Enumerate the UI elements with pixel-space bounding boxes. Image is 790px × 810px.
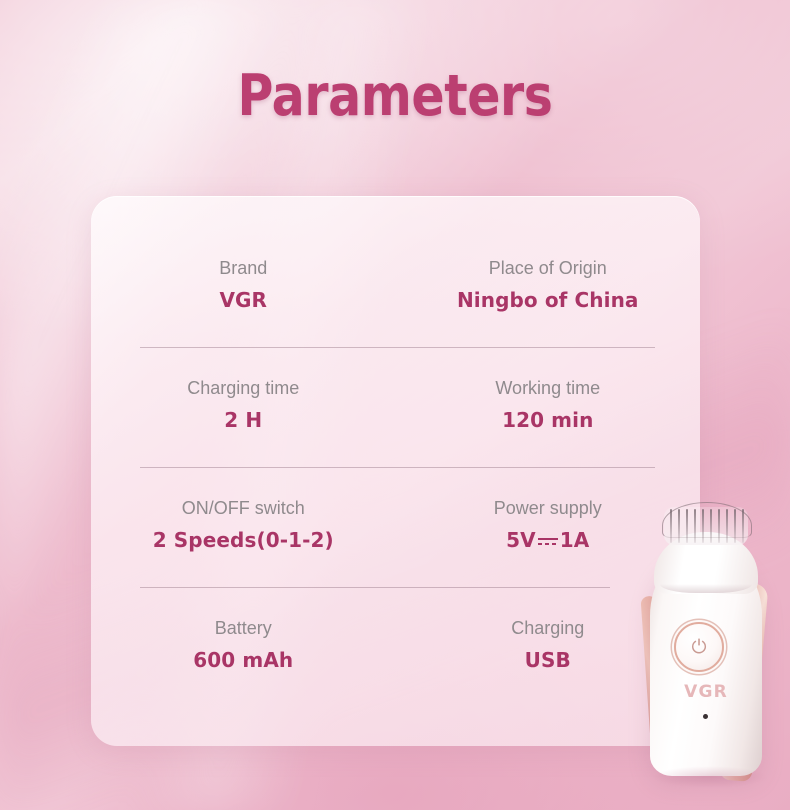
spec-label: Charging time xyxy=(91,376,396,400)
device-led-indicator xyxy=(703,714,708,719)
spec-table: Brand VGR Place of Origin Ningbo of Chin… xyxy=(91,196,700,746)
device-power-button[interactable]: ⏻ xyxy=(674,622,724,672)
dc-power-symbol-icon xyxy=(538,536,558,548)
product-image-epilator: ⏻ VGR xyxy=(636,498,790,788)
spec-value: 120 min xyxy=(396,407,701,434)
spec-value: 2 H xyxy=(91,407,396,434)
spec-label: Place of Origin xyxy=(396,256,701,280)
spec-label: Brand xyxy=(91,256,396,280)
spec-label: ON/OFF switch xyxy=(91,496,396,520)
power-voltage: 5V xyxy=(506,528,536,552)
table-row: ON/OFF switch 2 Speeds(0-1-2) Power supp… xyxy=(91,479,700,599)
row-divider xyxy=(140,467,655,468)
spec-cell-place-of-origin: Place of Origin Ningbo of China xyxy=(396,239,701,359)
device-drop-shadow xyxy=(652,766,768,788)
device-brand-logo: VGR xyxy=(636,682,776,702)
table-row: Charging time 2 H Working time 120 min xyxy=(91,359,700,479)
row-divider xyxy=(140,347,655,348)
spec-label: Working time xyxy=(396,376,701,400)
spec-value: Ningbo of China xyxy=(396,287,701,314)
spec-label: Battery xyxy=(91,616,396,640)
spec-cell-working-time: Working time 120 min xyxy=(396,359,701,479)
spec-value: 600 mAh xyxy=(91,647,396,674)
parameters-card: Brand VGR Place of Origin Ningbo of Chin… xyxy=(91,196,700,746)
page-title: Parameters xyxy=(55,64,734,128)
row-divider xyxy=(140,587,610,588)
table-row: Brand VGR Place of Origin Ningbo of Chin… xyxy=(91,239,700,359)
power-icon: ⏻ xyxy=(691,638,706,657)
spec-cell-onoff-switch: ON/OFF switch 2 Speeds(0-1-2) xyxy=(91,479,396,599)
spec-cell-brand: Brand VGR xyxy=(91,239,396,359)
spec-cell-charging-time: Charging time 2 H xyxy=(91,359,396,479)
table-row: Battery 600 mAh Charging USB xyxy=(91,599,700,719)
power-current: 1A xyxy=(560,528,590,552)
spec-cell-battery: Battery 600 mAh xyxy=(91,599,396,719)
spec-value: 2 Speeds(0-1-2) xyxy=(91,527,396,554)
spec-value: VGR xyxy=(91,287,396,314)
